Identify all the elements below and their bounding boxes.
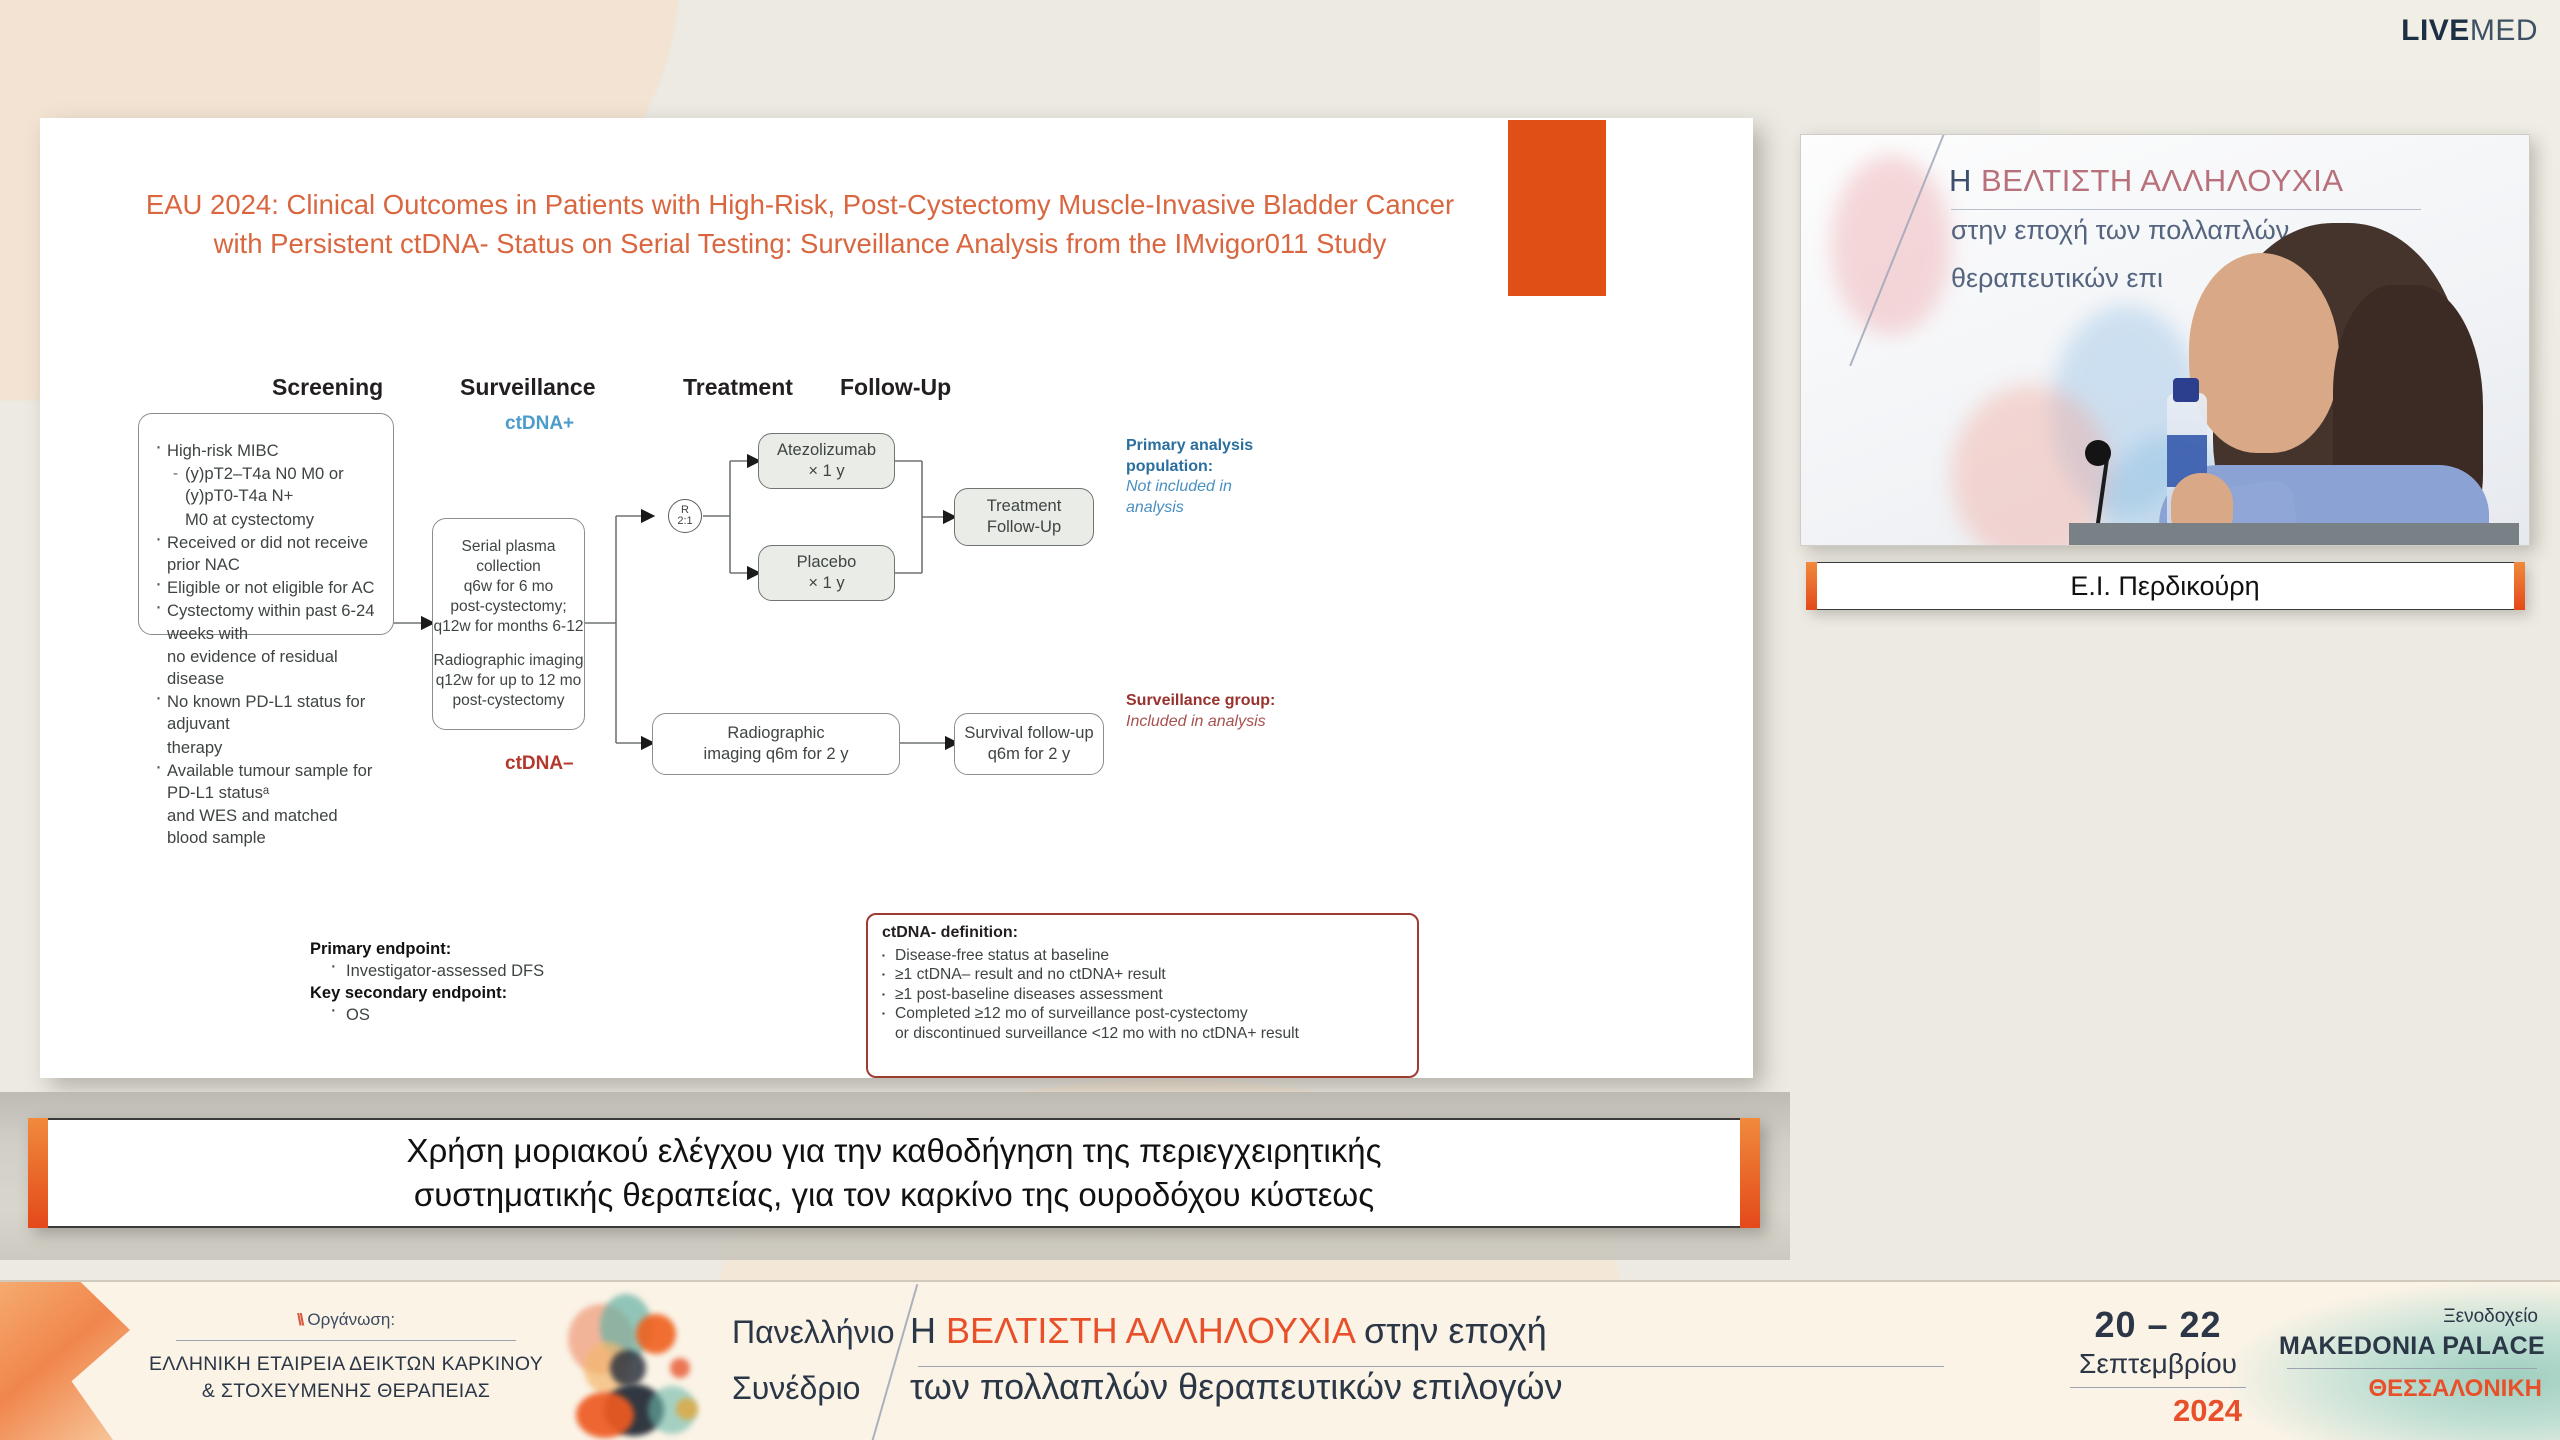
podium (2069, 523, 2519, 545)
treatment-box-line2: imaging q6m for 2 y (704, 744, 849, 765)
annotation-body: Included in analysis (1126, 713, 1266, 730)
list-item: M0 at cystectomy (153, 509, 377, 531)
followup-box-line2: q6m for 2 y (988, 744, 1071, 765)
endpoints-block: Primary endpoint: Investigator-assessed … (310, 938, 730, 1026)
annotation-body: Not included in analysis (1126, 478, 1232, 516)
secondary-endpoint-heading: Key secondary endpoint: (310, 982, 730, 1004)
list-item: therapy (153, 737, 377, 759)
speaker-name-bar: Ε.Ι. Περδικούρη (1806, 562, 2524, 610)
organizer-label: \\Οργάνωση: (146, 1310, 546, 1330)
congress-title-line2: των πολλαπλών θεραπευτικών επιλογών (910, 1366, 1562, 1408)
treatment-box-line2: × 1 y (808, 461, 844, 482)
speaker-video-panel[interactable]: Η ΒΕΛΤΙΣΤΗ ΑΛΛΗΛΟΥΧΙΑ στην εποχή των πολ… (1800, 134, 2530, 546)
treatment-box-atezolizumab: Atezolizumab × 1 y (758, 433, 895, 489)
organizer-slashes-icon: \\ (297, 1310, 302, 1329)
list-item: Eligible or not eligible for AC (153, 577, 377, 599)
surveillance-box: Serial plasma collection q6w for 6 mo po… (432, 518, 585, 730)
microphone-icon (2085, 440, 2111, 466)
annotation-primary-analysis: Primary analysis population: Not include… (1126, 436, 1286, 518)
followup-box-line2: Follow-Up (987, 517, 1061, 538)
treatment-box-line2: × 1 y (808, 573, 844, 594)
venue-label: Ξενοδοχείο (2278, 1306, 2546, 1328)
surveillance-line: Serial plasma collection (433, 537, 584, 577)
congress-title-red: ΒΕΛΤΙΣΤΗ ΑΛΛΗΛΟΥΧΙΑ (946, 1310, 1354, 1351)
congress-date-block: 20 – 22 Σεπτεμβρίου 2024 (2058, 1304, 2258, 1429)
list-item: Disease-free status at baseline (882, 946, 1405, 966)
congress-title-divider (918, 1366, 1944, 1367)
surveillance-line: q12w for up to 12 mo (436, 671, 582, 691)
organizer-divider (176, 1340, 516, 1341)
congress-word-panellinio: Πανελλήνιο (732, 1314, 910, 1351)
annotation-heading: Surveillance group: (1126, 691, 1286, 712)
congress-venue-block: Ξενοδοχείο MAKEDONIA PALACE ΘΕΣΣΑΛΟΝΙΚΗ (2278, 1306, 2546, 1403)
caption-line-1: Χρήση μοριακού ελέγχου για την καθοδήγησ… (114, 1129, 1674, 1173)
diagram-column-heading-screening: Screening (272, 374, 383, 401)
organizer-label-text: Οργάνωση: (307, 1310, 395, 1329)
organizer-name-line1: ΕΛΛΗΝΙΚΗ ΕΤΑΙΡΕΙΑ ΔΕΙΚΤΩΝ ΚΑΡΚΙΝΟΥ (146, 1351, 546, 1378)
livemed-logo-bold: LIVE (2401, 14, 2470, 47)
treatment-box-line1: Radiographic (727, 723, 824, 744)
congress-title-tail: στην εποχή (1364, 1310, 1547, 1351)
surveillance-line: post-cystectomy; (450, 597, 566, 617)
footer-flame-decoration (0, 1282, 130, 1440)
congress-date-divider (2070, 1387, 2246, 1388)
ctdna-definition-title: ctDNA- definition: (882, 923, 1405, 943)
list-item: Available tumour sample for PD-L1 status… (153, 760, 377, 804)
video-backdrop-line2: στην εποχή των πολλαπλών (1951, 215, 2289, 246)
list-item: and WES and matched blood sample (153, 805, 377, 849)
congress-date-month: Σεπτεμβρίου (2058, 1348, 2258, 1380)
diagram-column-heading-treatment: Treatment (683, 374, 793, 401)
congress-title-h: Η (910, 1310, 936, 1351)
diagram-column-heading-surveillance: Surveillance (460, 374, 596, 401)
organizer-name-line2: & ΣΤΟΧΕΥΜΕΝΗΣ ΘΕΡΑΠΕΙΑΣ (146, 1378, 546, 1405)
video-backdrop-title-main: ΒΕΛΤΙΣΤΗ ΑΛΛΗΛΟΥΧΙΑ (1981, 163, 2344, 198)
speaker-name: Ε.Ι. Περδικούρη (2070, 571, 2259, 602)
congress-date-year: 2024 (2058, 1393, 2258, 1429)
annotation-heading: Primary analysis population: (1126, 436, 1286, 477)
list-item: ≥1 post-baseline diseases assessment (882, 985, 1405, 1005)
screening-criteria-box: High-risk MIBC (y)pT2–T4a N0 M0 or (y)pT… (138, 413, 394, 635)
annotation-surveillance-group: Surveillance group: Included in analysis (1126, 691, 1286, 732)
secondary-endpoint-item: OS (310, 1004, 730, 1026)
surveillance-line: q12w for months 6-12 (434, 617, 584, 637)
ctdna-positive-label: ctDNA+ (505, 413, 574, 435)
livemed-logo-light: MED (2470, 14, 2538, 47)
primary-endpoint-heading: Primary endpoint: (310, 938, 730, 960)
list-item: High-risk MIBC (153, 440, 377, 462)
video-backdrop-rule (1951, 209, 2421, 210)
followup-box-survival: Survival follow-up q6m for 2 y (954, 713, 1104, 775)
primary-endpoint-item: Investigator-assessed DFS (310, 960, 730, 982)
conference-footer: \\Οργάνωση: ΕΛΛΗΝΙΚΗ ΕΤΑΙΡΕΙΑ ΔΕΙΚΤΩΝ ΚΑ… (0, 1280, 2560, 1440)
congress-title-line1: Η ΒΕΛΤΙΣΤΗ ΑΛΛΗΛΟΥΧΙΑ στην εποχή (910, 1310, 1547, 1352)
surveillance-line: q6w for 6 mo (464, 577, 554, 597)
screening-criteria-list: High-risk MIBC (y)pT2–T4a N0 M0 or (y)pT… (139, 414, 393, 861)
livemed-logo: LIVEMED (2401, 14, 2538, 48)
video-backdrop-title: Η ΒΕΛΤΙΣΤΗ ΑΛΛΗΛΟΥΧΙΑ (1949, 163, 2344, 199)
list-item: no evidence of residual disease (153, 646, 377, 690)
list-item: ≥1 ctDNA– result and no ctDNA+ result (882, 965, 1405, 985)
treatment-box-line1: Placebo (797, 552, 857, 573)
congress-title-block: Πανελλήνιο Η ΒΕΛΤΙΣΤΗ ΑΛΛΗΛΟΥΧΙΑ στην επ… (732, 1310, 2002, 1408)
video-backdrop-line3: θεραπευτικών επι (1951, 263, 2163, 294)
followup-box-line1: Survival follow-up (964, 723, 1093, 744)
treatment-box-line1: Atezolizumab (777, 440, 876, 461)
caption-text: Χρήση μοριακού ελέγχου για την καθοδήγησ… (114, 1129, 1674, 1217)
venue-name: MAKEDONIA PALACE (2278, 1332, 2546, 1361)
list-item: Completed ≥12 mo of surveillance post-cy… (882, 1004, 1405, 1024)
surveillance-line: post-cystectomy (453, 691, 565, 711)
diagram-column-heading-followup: Follow-Up (840, 374, 951, 401)
treatment-box-radiographic-imaging: Radiographic imaging q6m for 2 y (652, 713, 900, 775)
list-item: Received or did not receive prior NAC (153, 532, 377, 576)
caption-line-2: συστηματικής θεραπείας, για τον καρκίνο … (114, 1173, 1674, 1217)
ctdna-definition-list: Disease-free status at baseline ≥1 ctDNA… (882, 946, 1405, 1044)
footer-artwork (548, 1288, 738, 1438)
list-item: No known PD-L1 status for adjuvant (153, 691, 377, 735)
congress-diagonal-line (856, 1284, 919, 1440)
followup-box-line1: Treatment (987, 496, 1062, 517)
ctdna-definition-box: ctDNA- definition: Disease-free status a… (866, 913, 1419, 1078)
randomization-circle: R 2:1 (668, 499, 702, 533)
caption-bar: Χρήση μοριακού ελέγχου για την καθοδήγησ… (28, 1118, 1760, 1228)
speaker-face (2189, 253, 2339, 453)
treatment-box-placebo: Placebo × 1 y (758, 545, 895, 601)
video-backdrop-title-h: Η (1949, 163, 1972, 198)
congress-date-days: 20 – 22 (2058, 1304, 2258, 1346)
study-design-flow-diagram: Screening Surveillance Treatment Follow-… (40, 118, 1753, 1078)
ctdna-negative-label: ctDNA– (505, 753, 574, 775)
followup-box-treatment: Treatment Follow-Up (954, 488, 1094, 546)
venue-divider (2287, 1368, 2537, 1369)
video-backdrop-blob (1831, 155, 1951, 335)
randomization-ratio: 2:1 (677, 516, 692, 528)
list-item: (y)pT2–T4a N0 M0 or (y)pT0-T4a N+ (153, 463, 377, 507)
list-item: Cystectomy within past 6-24 weeks with (153, 600, 377, 644)
list-item: or discontinued surveillance <12 mo with… (882, 1024, 1405, 1044)
organizer-block: \\Οργάνωση: ΕΛΛΗΝΙΚΗ ΕΤΑΙΡΕΙΑ ΔΕΙΚΤΩΝ ΚΑ… (146, 1310, 546, 1405)
venue-city: ΘΕΣΣΑΛΟΝΙΚΗ (2278, 1375, 2546, 1403)
water-bottle-cap (2173, 378, 2199, 402)
surveillance-line: Radiographic imaging (434, 651, 584, 671)
